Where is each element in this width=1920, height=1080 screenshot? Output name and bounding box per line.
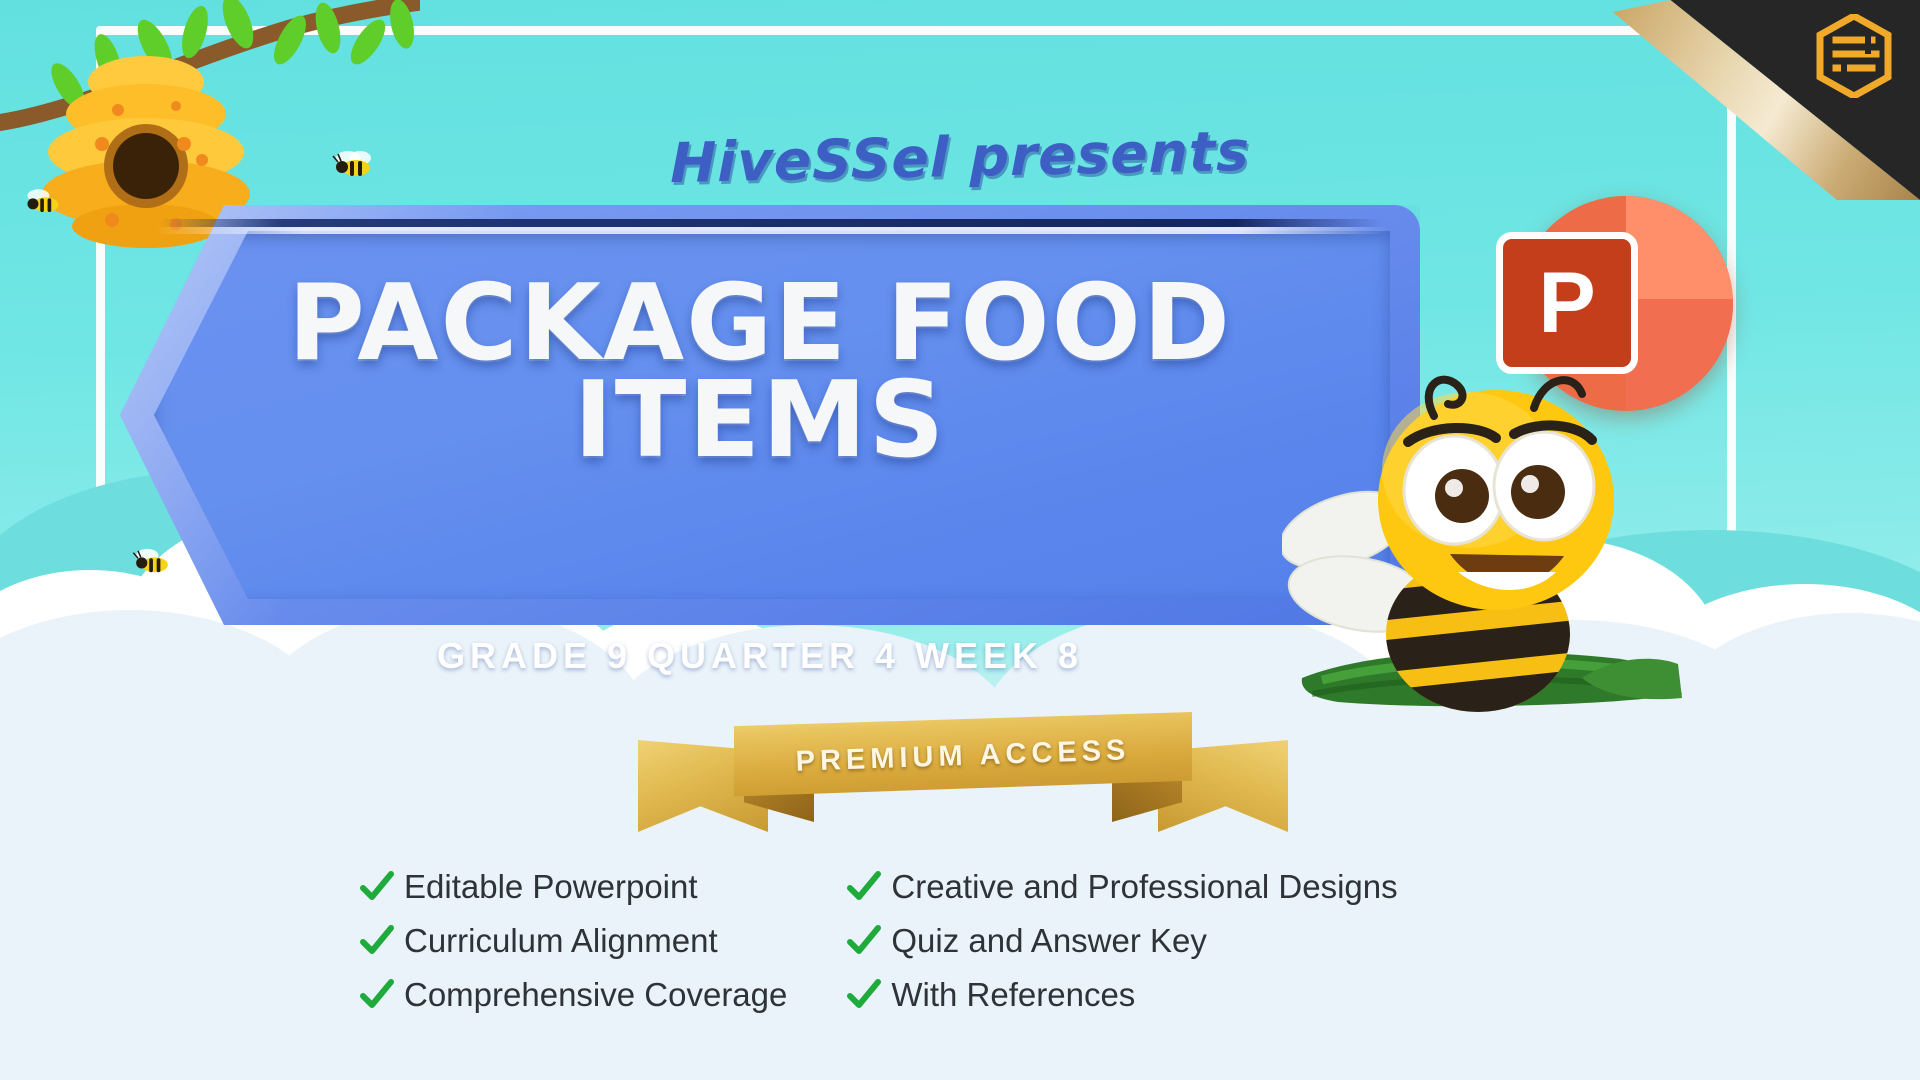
check-icon (847, 870, 881, 904)
check-icon (360, 978, 394, 1012)
list-item: Comprehensive Coverage (360, 976, 787, 1014)
premium-ribbon: PREMIUM ACCESS (638, 712, 1288, 822)
check-icon (847, 924, 881, 958)
check-icon (360, 924, 394, 958)
list-item: Creative and Professional Designs (847, 868, 1397, 906)
feature-label: Comprehensive Coverage (404, 976, 787, 1014)
list-item: Quiz and Answer Key (847, 922, 1397, 960)
page-title: PACKAGE FOOD ITEMS (185, 275, 1335, 468)
list-item: Curriculum Alignment (360, 922, 787, 960)
premium-ribbon-label: PREMIUM ACCESS (733, 704, 1194, 808)
check-icon (360, 870, 394, 904)
hexagon-logo-icon (1816, 14, 1892, 98)
grade-subtitle: GRADE 9 QUARTER 4 WEEK 8 (185, 635, 1335, 677)
feature-label: Quiz and Answer Key (891, 922, 1207, 960)
feature-label: Creative and Professional Designs (891, 868, 1397, 906)
feature-label: Editable Powerpoint (404, 868, 698, 906)
list-item: With References (847, 976, 1397, 1014)
bee-mascot-icon (1282, 358, 1687, 753)
powerpoint-letter: P (1496, 232, 1638, 374)
corner-fold (1600, 0, 1920, 200)
feature-list: Editable Powerpoint Curriculum Alignment… (360, 868, 1680, 1014)
list-item: Editable Powerpoint (360, 868, 787, 906)
feature-column-right: Creative and Professional Designs Quiz a… (847, 868, 1397, 1014)
title-line-2: ITEMS (185, 372, 1335, 469)
feature-column-left: Editable Powerpoint Curriculum Alignment… (360, 868, 787, 1014)
check-icon (847, 978, 881, 1012)
poster-canvas: HiveSSel presents PACKAGE FOOD ITEMS GRA… (0, 0, 1920, 1080)
feature-label: Curriculum Alignment (404, 922, 718, 960)
feature-label: With References (891, 976, 1135, 1014)
